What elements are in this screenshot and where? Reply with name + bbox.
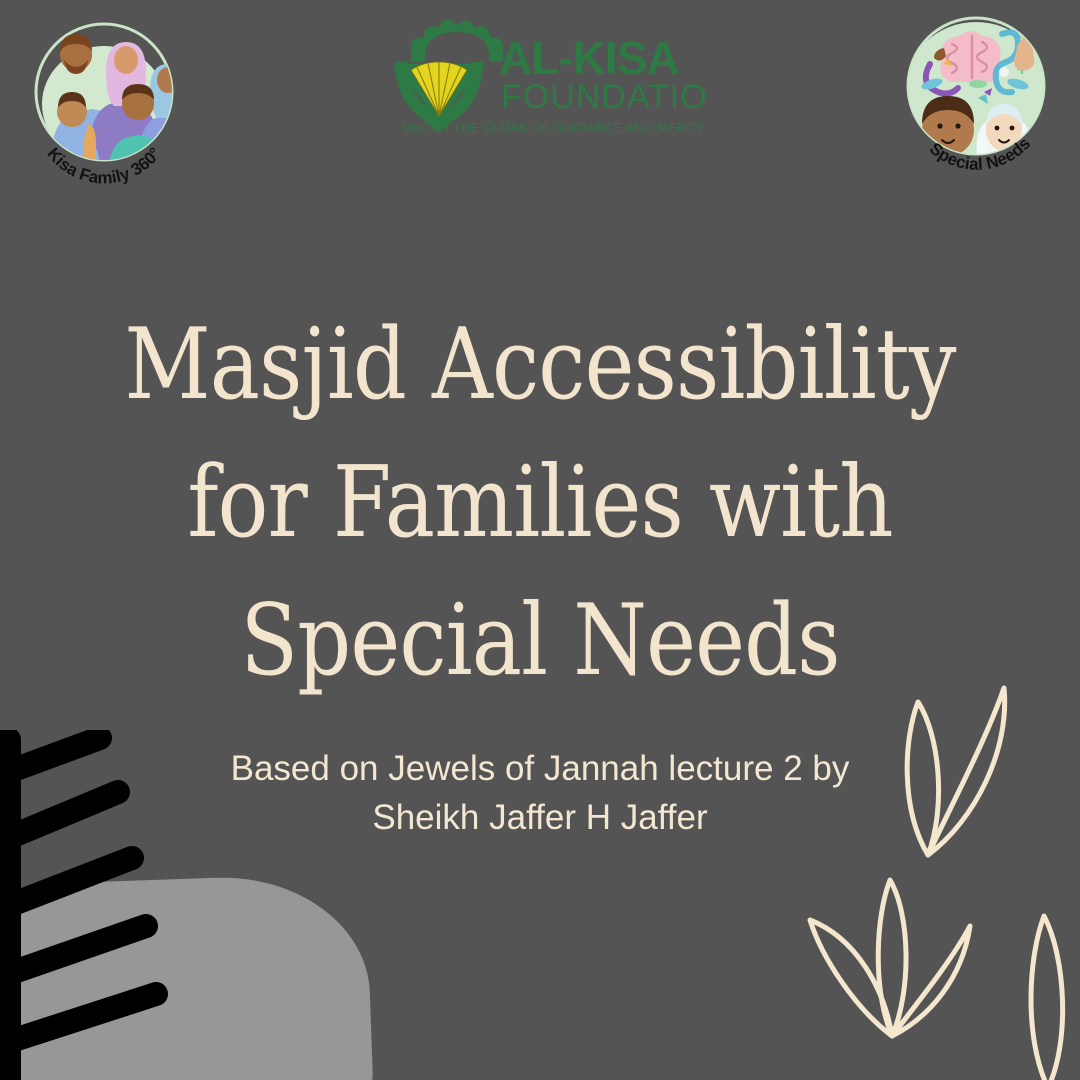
leaf-line-art-decoration xyxy=(800,658,1080,1080)
headline-line-2: for Families with xyxy=(76,434,1005,572)
poster-subtitle: Based on Jewels of Jannah lecture 2 by S… xyxy=(0,744,1080,842)
al-kisa-emblem xyxy=(393,19,503,132)
poster-canvas: Kisa Family 360° xyxy=(0,0,1080,1080)
al-kisa-tagline: UNDER THE CLOAK OF GUIDANCE AND MERCY xyxy=(403,121,705,135)
subtitle-line-1: Based on Jewels of Jannah lecture 2 by xyxy=(0,744,1080,793)
al-kisa-foundation-logo: AL-KISA FOUNDATION UNDER THE CLOAK OF GU… xyxy=(375,12,705,142)
poster-headline: Masjid Accessibility for Families with S… xyxy=(0,296,1080,710)
headline-line-1: Masjid Accessibility xyxy=(76,296,1005,434)
logo-row: Kisa Family 360° xyxy=(0,0,1080,220)
al-kisa-foundation-word: FOUNDATION xyxy=(501,78,705,116)
subtitle-line-2: Sheikh Jaffer H Jaffer xyxy=(0,793,1080,842)
headline-line-3: Special Needs xyxy=(76,572,1005,710)
al-kisa-wordmark: AL-KISA xyxy=(499,32,679,84)
special-needs-logo: Special Needs xyxy=(886,8,1066,188)
kisa-family-360-logo: Kisa Family 360° xyxy=(14,12,194,192)
